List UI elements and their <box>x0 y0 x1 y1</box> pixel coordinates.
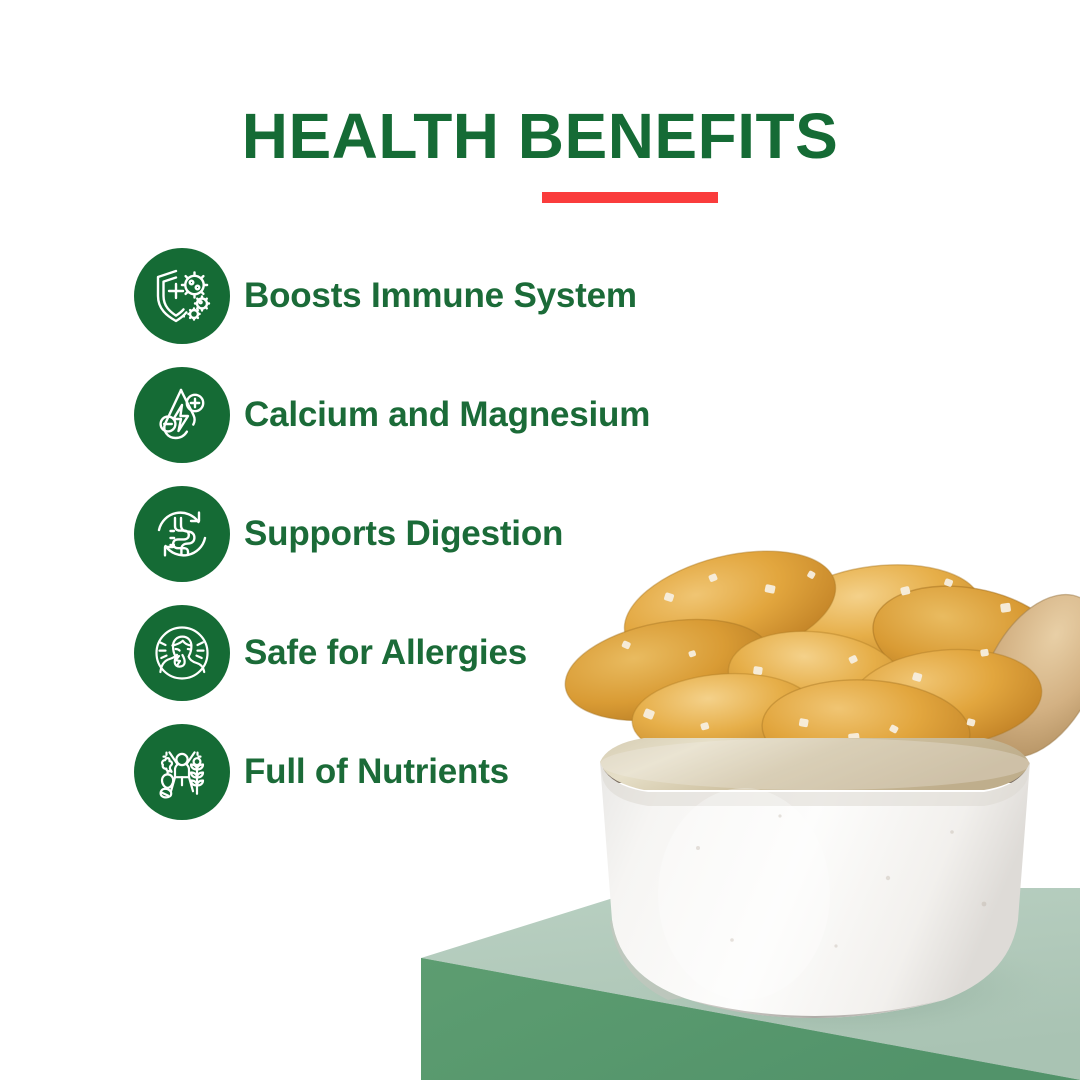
product-photo-bowl-of-crackers <box>548 548 1080 1028</box>
person-nutrients-icon <box>134 724 230 820</box>
page-title: HEALTH BENEFITS <box>0 104 1080 168</box>
health-benefits-poster: HEALTH BENEFITS <box>0 0 1080 1080</box>
bowl-of-crackers-illustration <box>548 548 1080 1028</box>
benefit-label: Calcium and Magnesium <box>244 395 650 435</box>
benefit-label: Full of Nutrients <box>244 752 509 792</box>
benefit-item-immune[interactable]: Boosts Immune System <box>134 248 754 344</box>
benefit-label: Boosts Immune System <box>244 276 637 316</box>
droplet-bolt-icon <box>134 367 230 463</box>
title-block: HEALTH BENEFITS <box>0 104 1080 203</box>
intestine-refresh-icon <box>134 486 230 582</box>
sneezing-person-icon <box>134 605 230 701</box>
benefit-label: Safe for Allergies <box>244 633 527 673</box>
ceramic-bowl <box>600 738 1030 1018</box>
benefit-item-minerals[interactable]: Calcium and Magnesium <box>134 367 754 463</box>
title-underline <box>542 192 718 203</box>
shield-virus-icon <box>134 248 230 344</box>
benefit-label: Supports Digestion <box>244 514 563 554</box>
